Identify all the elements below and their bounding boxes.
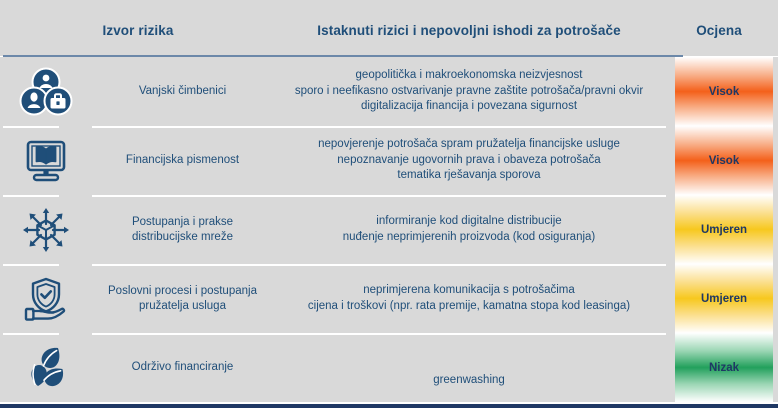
risk-list: informiranje kod digitalne distribucije … (343, 214, 596, 245)
table-row: Financijska pismenost nepovjerenje potro… (0, 126, 778, 195)
row-icon-cell (0, 333, 92, 402)
risk-list: nepovjerenje potrošača spram pružatelja … (318, 137, 620, 184)
distribution-network-icon (19, 204, 73, 256)
row-rating-cell: Umjeren (665, 195, 773, 264)
table-header: Izvor rizika Istaknuti rizici i nepovolj… (0, 0, 778, 56)
row-source-cell: Održivo financiranje (92, 333, 273, 402)
table-body: Vanjski čimbenici geopolitička i makroek… (0, 57, 778, 402)
table-row: Postupanja i prakse distribucijske mreže… (0, 195, 778, 264)
row-source-cell: Poslovni procesi i postupanja pružatelja… (92, 264, 273, 333)
row-divider-left (3, 126, 59, 128)
bottom-border (0, 404, 778, 408)
row-source-cell: Financijska pismenost (92, 126, 273, 195)
rating-band-high: Visok (675, 57, 773, 126)
row-risks-cell: geopolitička i makroekonomska neizvjesno… (273, 57, 665, 126)
row-divider-left (3, 264, 59, 266)
rating-label: Visok (709, 86, 739, 98)
row-rating-cell: Visok (665, 57, 773, 126)
risk-list: geopolitička i makroekonomska neizvjesno… (295, 68, 643, 115)
row-icon-cell (0, 57, 92, 126)
rating-band-moderate: Umjeren (675, 264, 773, 333)
table-row: Poslovni procesi i postupanja pružatelja… (0, 264, 778, 333)
row-risks-cell: neprimjerena komunikacija s potrošačima … (273, 264, 665, 333)
row-divider-left (3, 333, 59, 335)
table-row: Vanjski čimbenici geopolitička i makroek… (0, 57, 778, 126)
row-source-cell: Vanjski čimbenici (92, 57, 273, 126)
row-rating-cell: Visok (665, 126, 773, 195)
row-divider-main (92, 264, 666, 266)
rating-label: Nizak (709, 362, 739, 374)
rating-label: Umjeren (701, 224, 747, 236)
rating-band-low: Nizak (675, 333, 773, 402)
row-icon-cell (0, 195, 92, 264)
row-source-cell: Postupanja i prakse distribucijske mreže (92, 195, 273, 264)
row-divider-left (3, 195, 59, 197)
rating-label: Visok (709, 155, 739, 167)
row-rating-cell: Umjeren (665, 264, 773, 333)
risk-matrix-table: Izvor rizika Istaknuti rizici i nepovolj… (0, 0, 778, 408)
header-risks: Istaknuti rizici i nepovoljni ishodi za … (273, 23, 665, 38)
row-risks-cell: greenwashing (273, 333, 665, 402)
row-divider-main (92, 333, 666, 335)
row-risks-cell: informiranje kod digitalne distribucije … (273, 195, 665, 264)
people-group-icon (19, 67, 73, 117)
row-icon-cell (0, 264, 92, 333)
header-source: Izvor rizika (3, 23, 273, 38)
row-rating-cell: Nizak (665, 333, 773, 402)
source-label: Postupanja i prakse distribucijske mreže (132, 215, 233, 245)
row-risks-cell: nepovjerenje potrošača spram pružatelja … (273, 126, 665, 195)
row-icon-cell (0, 126, 92, 195)
source-label: Financijska pismenost (126, 153, 239, 168)
table-row: Održivo financiranje greenwashing Nizak (0, 333, 778, 402)
risk-list: greenwashing (433, 347, 505, 389)
source-label: Održivo financiranje (132, 360, 234, 375)
row-divider-main (92, 195, 666, 197)
shield-hand-icon (18, 273, 74, 325)
rating-band-moderate: Umjeren (675, 195, 773, 264)
row-divider-main (92, 126, 666, 128)
header-rating: Ocjena (665, 23, 773, 38)
source-label: Vanjski čimbenici (139, 84, 226, 99)
risk-list: neprimjerena komunikacija s potrošačima … (308, 283, 630, 314)
source-label: Poslovni procesi i postupanja pružatelja… (108, 284, 257, 314)
rating-band-high: Visok (675, 126, 773, 195)
rating-label: Umjeren (701, 293, 747, 305)
leaves-recycle-icon (18, 343, 74, 393)
monitor-book-icon (19, 136, 73, 186)
